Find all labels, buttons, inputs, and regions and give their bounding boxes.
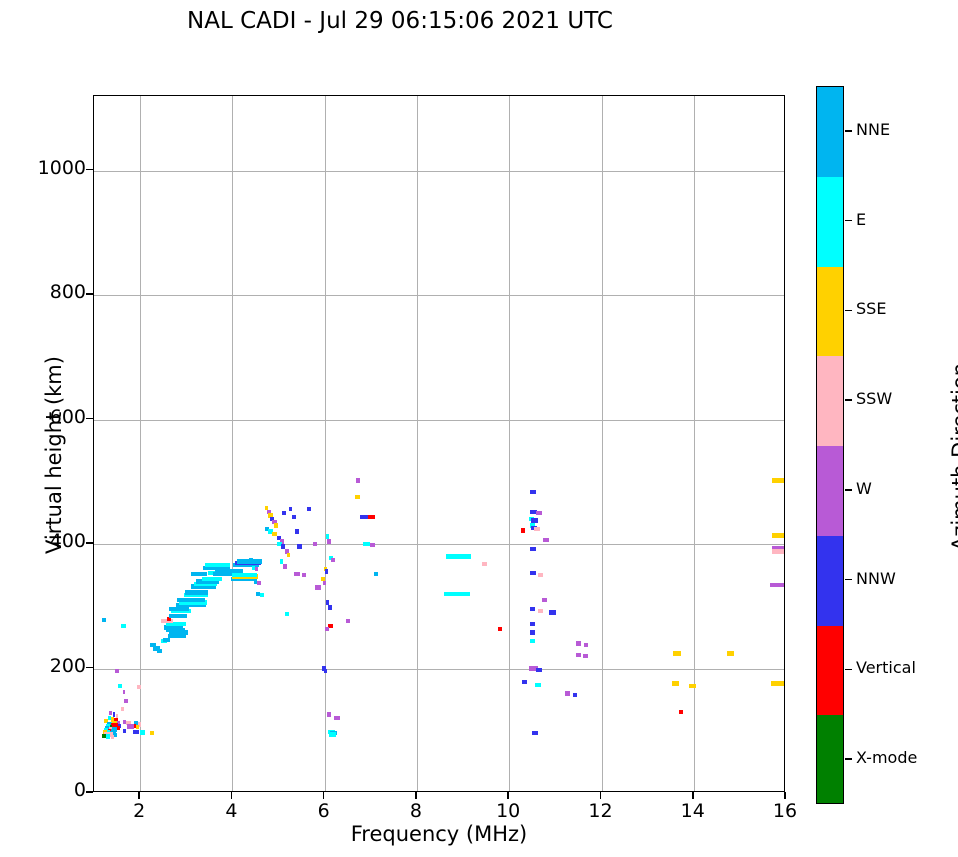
echo-mark bbox=[346, 619, 351, 623]
x-axis-tick bbox=[600, 792, 602, 799]
x-axis-tick-label: 2 bbox=[116, 800, 162, 822]
echo-mark bbox=[772, 478, 785, 482]
echo-mark bbox=[285, 612, 289, 616]
echo-mark bbox=[326, 600, 330, 604]
echo-mark bbox=[280, 559, 284, 563]
echo-mark bbox=[324, 669, 328, 673]
echo-mark bbox=[772, 549, 785, 553]
y-axis-tick bbox=[86, 418, 93, 420]
echo-mark bbox=[673, 651, 680, 655]
echo-mark bbox=[770, 583, 785, 587]
gridline-horizontal bbox=[94, 295, 784, 296]
x-axis-tick bbox=[138, 792, 140, 799]
gridline-vertical bbox=[232, 96, 233, 791]
echo-mark bbox=[368, 515, 375, 519]
echo-mark bbox=[522, 680, 527, 684]
y-axis-tick bbox=[86, 293, 93, 295]
figure-canvas: NAL CADI - Jul 29 06:15:06 2021 UTC 0200… bbox=[0, 0, 958, 857]
x-axis-tick bbox=[231, 792, 233, 799]
echo-mark bbox=[530, 607, 536, 611]
echo-mark bbox=[325, 627, 330, 631]
echo-mark bbox=[260, 593, 264, 597]
colorbar-title: Azimuth Direction bbox=[948, 297, 958, 617]
echo-mark bbox=[106, 734, 110, 738]
echo-mark bbox=[205, 563, 231, 567]
y-axis-tick-label: 0 bbox=[14, 779, 86, 801]
echo-mark bbox=[444, 592, 471, 596]
echo-mark bbox=[283, 564, 287, 568]
echo-mark bbox=[133, 730, 140, 734]
x-axis-tick bbox=[692, 792, 694, 799]
colorbar-segment-nne[interactable] bbox=[817, 87, 843, 177]
echo-mark bbox=[297, 544, 302, 548]
x-axis-tick bbox=[507, 792, 509, 799]
gridline-horizontal bbox=[94, 669, 784, 670]
echo-mark bbox=[202, 577, 222, 581]
echo-mark bbox=[521, 528, 525, 532]
echo-mark bbox=[123, 729, 127, 733]
echo-mark bbox=[549, 610, 556, 614]
echo-mark bbox=[325, 569, 329, 573]
echo-mark bbox=[543, 538, 549, 542]
x-axis-tick bbox=[323, 792, 325, 799]
y-axis-tick bbox=[86, 542, 93, 544]
colorbar-tick bbox=[845, 579, 852, 580]
colorbar-segment-vertical[interactable] bbox=[817, 626, 843, 716]
echo-mark bbox=[137, 685, 141, 689]
echo-mark bbox=[111, 735, 115, 739]
echo-mark bbox=[446, 554, 472, 558]
echo-mark bbox=[289, 507, 293, 511]
echo-mark bbox=[530, 630, 536, 634]
echo-mark bbox=[538, 609, 544, 613]
echo-mark bbox=[482, 562, 488, 566]
gridline-vertical bbox=[417, 96, 418, 791]
x-axis-tick-label: 10 bbox=[485, 800, 531, 822]
echo-mark bbox=[302, 573, 307, 577]
echo-mark bbox=[530, 547, 536, 551]
colorbar-segment-x-mode[interactable] bbox=[817, 715, 843, 804]
colorbar-label-x-mode: X-mode bbox=[856, 748, 917, 767]
echo-mark bbox=[102, 618, 106, 622]
echo-mark bbox=[313, 542, 318, 546]
figure-title: NAL CADI - Jul 29 06:15:06 2021 UTC bbox=[0, 8, 800, 34]
echo-mark bbox=[295, 529, 299, 533]
colorbar-tick bbox=[845, 669, 852, 670]
plot-area[interactable] bbox=[93, 95, 785, 792]
echo-mark bbox=[355, 495, 360, 499]
gridline-vertical bbox=[509, 96, 510, 791]
echo-mark bbox=[124, 699, 128, 703]
echo-mark bbox=[532, 731, 538, 735]
colorbar-label-w: W bbox=[856, 479, 872, 498]
x-axis-tick bbox=[784, 792, 786, 799]
colorbar-tick bbox=[845, 489, 852, 490]
echo-mark bbox=[177, 598, 205, 602]
colorbar-tick bbox=[845, 399, 852, 400]
echo-mark bbox=[536, 511, 542, 515]
echo-mark bbox=[771, 681, 785, 685]
gridline-horizontal bbox=[94, 420, 784, 421]
echo-mark bbox=[326, 534, 330, 538]
gridline-vertical bbox=[602, 96, 603, 791]
colorbar-label-nne: NNE bbox=[856, 120, 890, 139]
echo-mark bbox=[334, 716, 341, 720]
gridline-horizontal bbox=[94, 544, 784, 545]
echo-mark bbox=[727, 651, 734, 655]
colorbar-tick bbox=[845, 310, 852, 311]
echo-mark bbox=[542, 598, 548, 602]
y-axis-tick-label: 800 bbox=[14, 281, 86, 303]
echo-mark bbox=[329, 732, 336, 736]
x-axis-tick-label: 16 bbox=[762, 800, 808, 822]
echo-mark bbox=[689, 684, 696, 688]
echo-mark bbox=[191, 572, 208, 576]
echo-mark bbox=[534, 527, 540, 531]
echo-mark bbox=[498, 627, 502, 631]
colorbar-tick bbox=[845, 130, 852, 131]
echo-mark bbox=[327, 712, 331, 716]
gridline-vertical bbox=[325, 96, 326, 791]
x-axis-tick-label: 8 bbox=[393, 800, 439, 822]
x-axis-tick-label: 4 bbox=[208, 800, 254, 822]
echo-mark bbox=[292, 515, 296, 519]
gridline-horizontal bbox=[94, 171, 784, 172]
echo-mark bbox=[530, 490, 536, 494]
x-axis-tick-label: 12 bbox=[577, 800, 623, 822]
echo-mark bbox=[679, 710, 683, 714]
echo-mark bbox=[123, 690, 126, 694]
echo-mark bbox=[274, 523, 279, 527]
echo-mark bbox=[115, 669, 119, 673]
echo-mark bbox=[232, 573, 257, 577]
colorbar-segment-e[interactable] bbox=[817, 177, 843, 267]
echo-mark bbox=[287, 553, 291, 557]
echo-mark bbox=[530, 622, 536, 626]
echo-mark bbox=[583, 654, 588, 658]
echo-mark bbox=[150, 731, 154, 735]
colorbar-tick bbox=[845, 220, 852, 221]
echo-mark bbox=[136, 725, 140, 729]
echo-mark bbox=[257, 581, 261, 585]
echo-mark bbox=[363, 542, 370, 546]
echo-mark bbox=[185, 590, 208, 594]
colorbar-label-e: E bbox=[856, 210, 866, 229]
colorbar-label-vertical: Vertical bbox=[856, 658, 916, 677]
echo-mark bbox=[157, 649, 163, 653]
echo-mark bbox=[281, 544, 285, 548]
colorbar-segment-sse[interactable] bbox=[817, 267, 843, 357]
y-axis-title: Virtual height (km) bbox=[42, 305, 66, 605]
y-axis-tick-label: 200 bbox=[14, 655, 86, 677]
echo-mark bbox=[538, 573, 544, 577]
y-axis-tick bbox=[86, 791, 93, 793]
colorbar-label-ssw: SSW bbox=[856, 389, 892, 408]
x-axis-tick-label: 6 bbox=[301, 800, 347, 822]
colorbar-label-nnw: NNW bbox=[856, 569, 896, 588]
colorbar-label-sse: SSE bbox=[856, 299, 886, 318]
echo-mark bbox=[584, 643, 589, 647]
echo-mark bbox=[576, 653, 582, 657]
echo-mark bbox=[168, 634, 187, 638]
colorbar[interactable] bbox=[816, 86, 844, 804]
x-axis-tick-label: 14 bbox=[670, 800, 716, 822]
echo-mark bbox=[249, 558, 253, 562]
echo-mark bbox=[565, 691, 571, 695]
x-axis-tick bbox=[415, 792, 417, 799]
x-axis-title: Frequency (MHz) bbox=[93, 822, 785, 846]
echo-mark bbox=[360, 515, 368, 519]
echo-mark bbox=[536, 668, 542, 672]
y-axis-tick bbox=[86, 667, 93, 669]
echo-mark bbox=[328, 605, 332, 609]
echo-mark bbox=[140, 730, 145, 734]
echo-mark bbox=[576, 641, 582, 645]
colorbar-segment-w[interactable] bbox=[817, 446, 843, 536]
echo-mark bbox=[282, 511, 286, 515]
echo-mark bbox=[530, 639, 536, 643]
colorbar-segment-ssw[interactable] bbox=[817, 356, 843, 446]
echo-mark bbox=[772, 533, 785, 537]
echo-mark bbox=[374, 572, 379, 576]
echo-mark bbox=[121, 707, 125, 711]
echo-mark bbox=[315, 585, 321, 589]
echo-mark bbox=[531, 518, 538, 522]
colorbar-segment-nnw[interactable] bbox=[817, 536, 843, 626]
echo-mark bbox=[121, 624, 127, 628]
y-axis-tick-label: 1000 bbox=[14, 157, 86, 179]
echo-mark bbox=[573, 693, 578, 697]
echo-mark bbox=[307, 507, 311, 511]
echo-mark bbox=[535, 683, 541, 687]
echo-mark bbox=[331, 558, 335, 562]
echo-mark bbox=[370, 543, 376, 547]
echo-mark bbox=[169, 614, 188, 618]
echo-mark bbox=[294, 572, 300, 576]
echo-mark bbox=[164, 625, 183, 629]
echo-mark bbox=[118, 684, 122, 688]
y-axis-tick bbox=[86, 169, 93, 171]
echo-mark bbox=[127, 724, 134, 728]
echo-mark bbox=[672, 681, 679, 685]
echo-mark bbox=[255, 567, 259, 571]
echo-mark bbox=[327, 539, 331, 543]
echo-mark bbox=[323, 581, 327, 585]
colorbar-tick bbox=[845, 758, 852, 759]
echo-mark bbox=[356, 478, 360, 482]
echo-mark bbox=[530, 571, 537, 575]
